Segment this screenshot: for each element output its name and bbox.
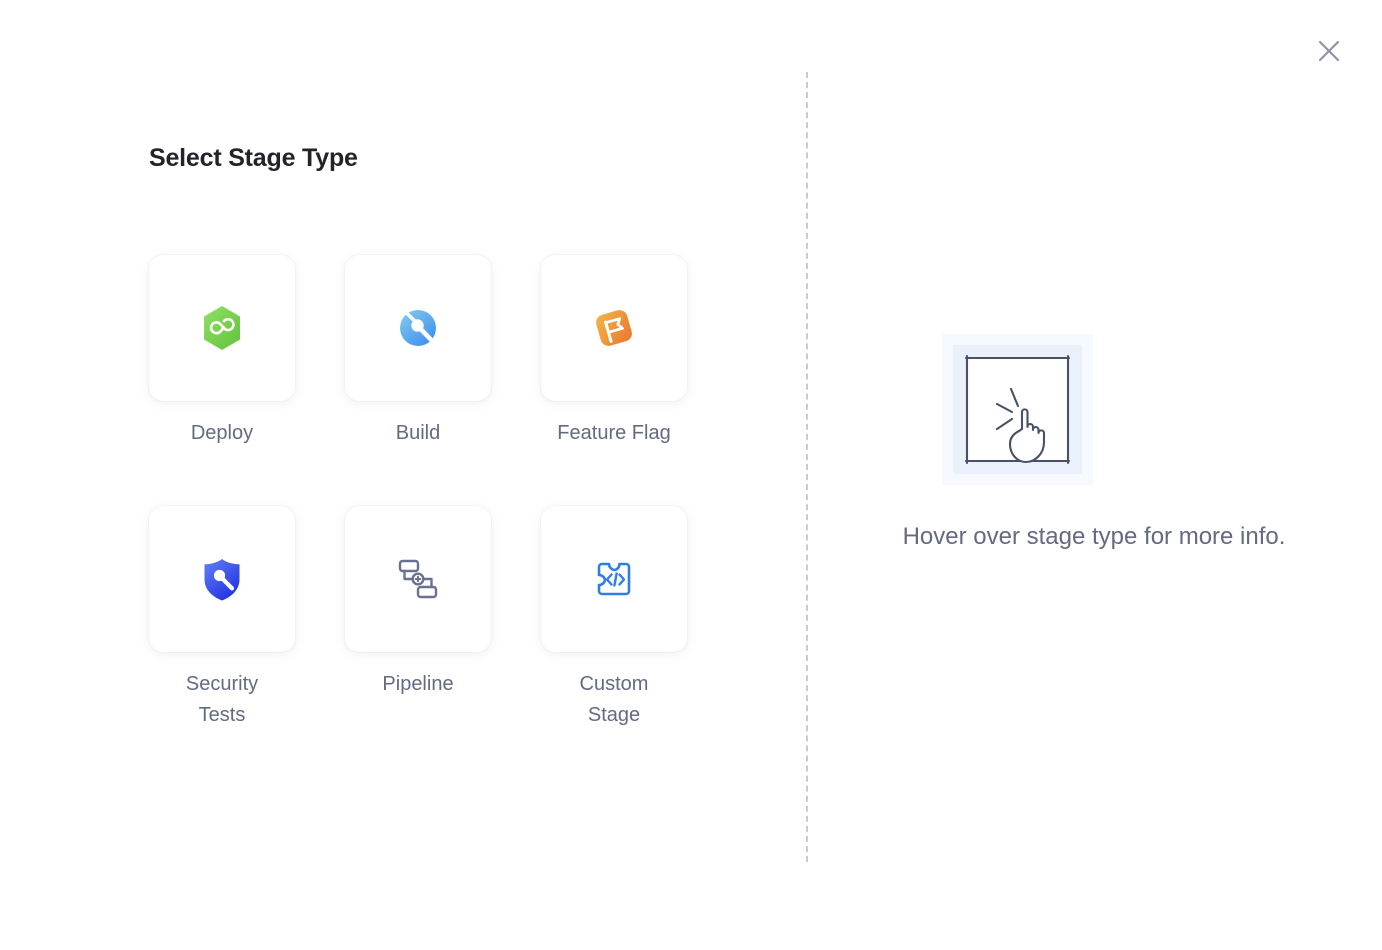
stage-card[interactable]: [345, 255, 491, 401]
stage-card[interactable]: [345, 506, 491, 652]
stage-type-grid: Deploy: [149, 255, 687, 731]
stage-option-build[interactable]: Build: [345, 255, 491, 449]
stage-label: Security Tests: [163, 669, 281, 731]
stage-type-panel: Select Stage Type Deploy: [0, 0, 806, 950]
stage-option-security-tests[interactable]: Security Tests: [149, 506, 295, 731]
info-panel: Hover over stage type for more info.: [806, 0, 1382, 950]
stage-label: Feature Flag: [555, 418, 673, 449]
custom-stage-code-puzzle-icon: [590, 555, 638, 603]
stage-card[interactable]: [541, 255, 687, 401]
stage-option-deploy[interactable]: Deploy: [149, 255, 295, 449]
stage-option-pipeline[interactable]: Pipeline: [345, 506, 491, 731]
hover-hint-text: Hover over stage type for more info.: [834, 518, 1354, 555]
stage-card[interactable]: [149, 506, 295, 652]
pipeline-nodes-icon: [392, 553, 444, 605]
feature-flag-icon: [589, 303, 639, 353]
page-title: Select Stage Type: [149, 144, 358, 173]
stage-label: Build: [359, 418, 477, 449]
stage-label: Pipeline: [359, 669, 477, 700]
build-magnifier-circle-icon: [393, 303, 443, 353]
stage-option-feature-flag[interactable]: Feature Flag: [541, 255, 687, 449]
stage-card[interactable]: [541, 506, 687, 652]
hand-click-frame-illustration: [942, 334, 1093, 485]
deploy-hexagon-infinity-icon: [197, 303, 247, 353]
stage-label: Deploy: [163, 418, 281, 449]
stage-label: Custom Stage: [555, 669, 673, 731]
stage-option-custom-stage[interactable]: Custom Stage: [541, 506, 687, 731]
security-shield-magnifier-icon: [199, 555, 245, 603]
stage-card[interactable]: [149, 255, 295, 401]
